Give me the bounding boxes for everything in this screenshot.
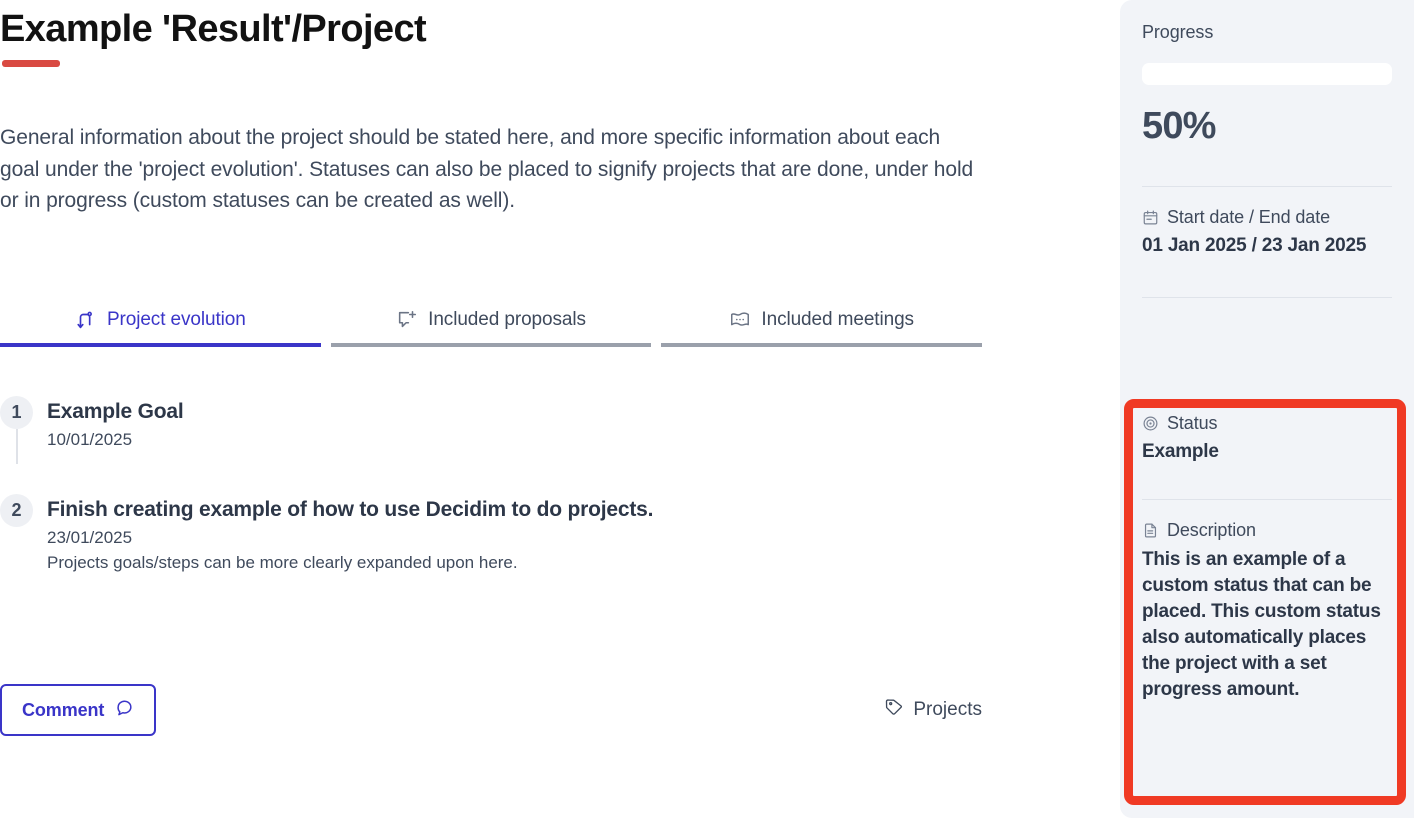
dates-label: Start date / End date	[1142, 207, 1392, 228]
description-label: Description	[1142, 520, 1392, 541]
document-icon	[1142, 522, 1159, 539]
progress-percentage: 50%	[1142, 105, 1392, 148]
main-content: Example 'Result'/Project General informa…	[0, 0, 1100, 818]
timeline-item: 1 Example Goal 10/01/2025	[0, 396, 980, 462]
status-description-group: Status Example Description	[1142, 413, 1392, 703]
speech-bubble-icon	[115, 698, 134, 722]
project-evolution-timeline: 1 Example Goal 10/01/2025 2 Finish creat…	[0, 396, 980, 585]
footer-actions: Comment Projects	[0, 684, 982, 736]
route-icon	[75, 309, 97, 331]
timeline-item-title: Example Goal	[47, 398, 184, 425]
project-detail-page: Example 'Result'/Project General informa…	[0, 0, 1414, 818]
dates-label-text: Start date / End date	[1167, 207, 1330, 228]
tab-included-meetings[interactable]: Included meetings	[661, 305, 982, 347]
page-title: Example 'Result'/Project	[0, 6, 426, 52]
sidebar-divider	[1142, 297, 1392, 298]
project-sidebar: Progress 50% Start dat	[1120, 0, 1414, 818]
timeline-step-number: 2	[0, 494, 33, 527]
tab-project-evolution[interactable]: Project evolution	[0, 305, 321, 347]
sidebar-status-block: Status Example	[1142, 413, 1392, 465]
comment-button[interactable]: Comment	[0, 684, 156, 736]
timeline-item-body: Finish creating example of how to use De…	[47, 494, 653, 575]
tab-label: Project evolution	[107, 309, 246, 331]
tab-bar: Project evolution Included proposals	[0, 305, 982, 347]
title-underline-rule	[2, 60, 60, 67]
project-intro-text: General information about the project sh…	[0, 122, 985, 217]
timeline-item-date: 10/01/2025	[47, 427, 184, 452]
description-value: This is an example of a custom status th…	[1142, 547, 1392, 703]
dates-value: 01 Jan 2025 / 23 Jan 2025	[1142, 233, 1392, 259]
sidebar-dates-block: Start date / End date 01 Jan 2025 / 23 J…	[1142, 187, 1392, 259]
projects-tag-label: Projects	[913, 699, 982, 721]
progress-label: Progress	[1142, 22, 1392, 43]
status-value: Example	[1142, 439, 1392, 465]
sidebar-progress-block: Progress 50%	[1142, 22, 1392, 148]
status-label: Status	[1142, 413, 1392, 434]
timeline-item-date: 23/01/2025	[47, 525, 653, 550]
tab-label: Included proposals	[428, 309, 586, 331]
comment-button-label: Comment	[22, 700, 104, 721]
sidebar-description-block: Description This is an example of a cust…	[1142, 500, 1392, 703]
progress-bar	[1142, 63, 1392, 85]
description-label-text: Description	[1167, 520, 1256, 541]
tab-label: Included meetings	[761, 309, 914, 331]
timeline-step-number: 1	[0, 396, 33, 429]
timeline-item-title: Finish creating example of how to use De…	[47, 496, 653, 523]
timeline-item-description: Projects goals/steps can be more clearly…	[47, 550, 653, 575]
progress-label-text: Progress	[1142, 22, 1213, 43]
target-icon	[1142, 415, 1159, 432]
timeline-item: 2 Finish creating example of how to use …	[0, 494, 980, 585]
projects-tag[interactable]: Projects	[884, 697, 982, 723]
timeline-item-body: Example Goal 10/01/2025	[47, 396, 184, 452]
meeting-flag-icon	[729, 309, 751, 331]
add-comment-icon	[396, 309, 418, 331]
calendar-icon	[1142, 209, 1159, 226]
tab-included-proposals[interactable]: Included proposals	[331, 305, 652, 347]
price-tag-icon	[884, 697, 904, 723]
status-label-text: Status	[1167, 413, 1217, 434]
timeline-connector	[16, 429, 18, 464]
